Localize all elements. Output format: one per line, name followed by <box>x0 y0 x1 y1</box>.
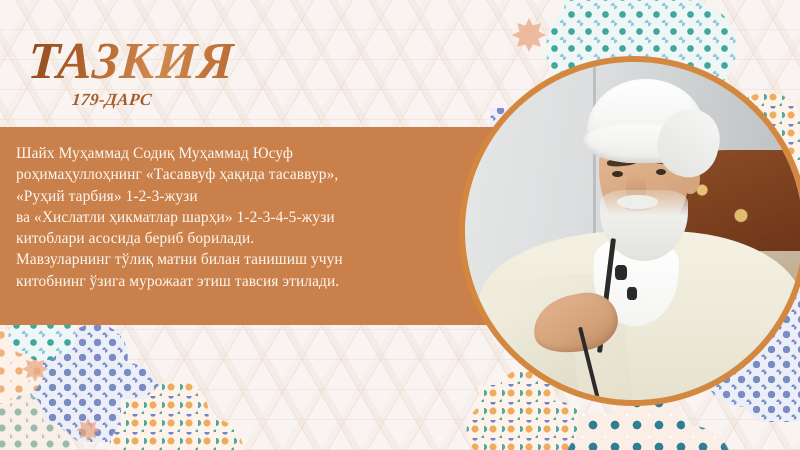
banner-line-1: Шайх Муҳаммад Содиқ Муҳаммад Юсуф <box>16 143 446 164</box>
brand-logo: ТАЗКИЯ 179-ДАРС <box>28 36 234 110</box>
banner-line-7: китобнинг ўзига мурожаат этиш тавсия эти… <box>16 271 446 292</box>
banner-line-3: «Руҳий тарбия» 1-2-3-жузи <box>16 186 446 207</box>
banner-text-block: Шайх Муҳаммад Содиқ Муҳаммад Юсуф роҳима… <box>16 143 446 292</box>
brand-subtitle: 179-ДАРС <box>71 90 236 110</box>
banner-line-4: ва «Хислатли ҳикматлар шарҳи» 1-2-3-4-5-… <box>16 207 446 228</box>
portrait-eye-left <box>612 171 623 177</box>
banner-line-2: роҳимаҳуллоҳнинг «Тасаввуф ҳақида тасавв… <box>16 164 446 185</box>
portrait-lapel-mic-2 <box>627 287 637 301</box>
portrait-frame: Шайх Муҳаммад Содиқ Муҳаммад Юсуф <box>459 56 800 406</box>
banner-line-6: Мавзуларнинг тўлиқ матни билан танишиш у… <box>16 249 446 270</box>
banner-line-5: китоблари асосида бериб борилади. <box>16 228 446 249</box>
ornament-cloud-confetti-bottomleft <box>108 378 244 450</box>
portrait-lapel-mic <box>615 265 626 281</box>
slide-canvas: ТАЗКИЯ 179-ДАРС Шайх Муҳаммад Содиқ Муҳа… <box>0 0 800 450</box>
brand-title: ТАЗКИЯ <box>26 36 236 88</box>
portrait-photo: Шайх Муҳаммад Содиқ Муҳаммад Юсуф <box>465 62 800 400</box>
